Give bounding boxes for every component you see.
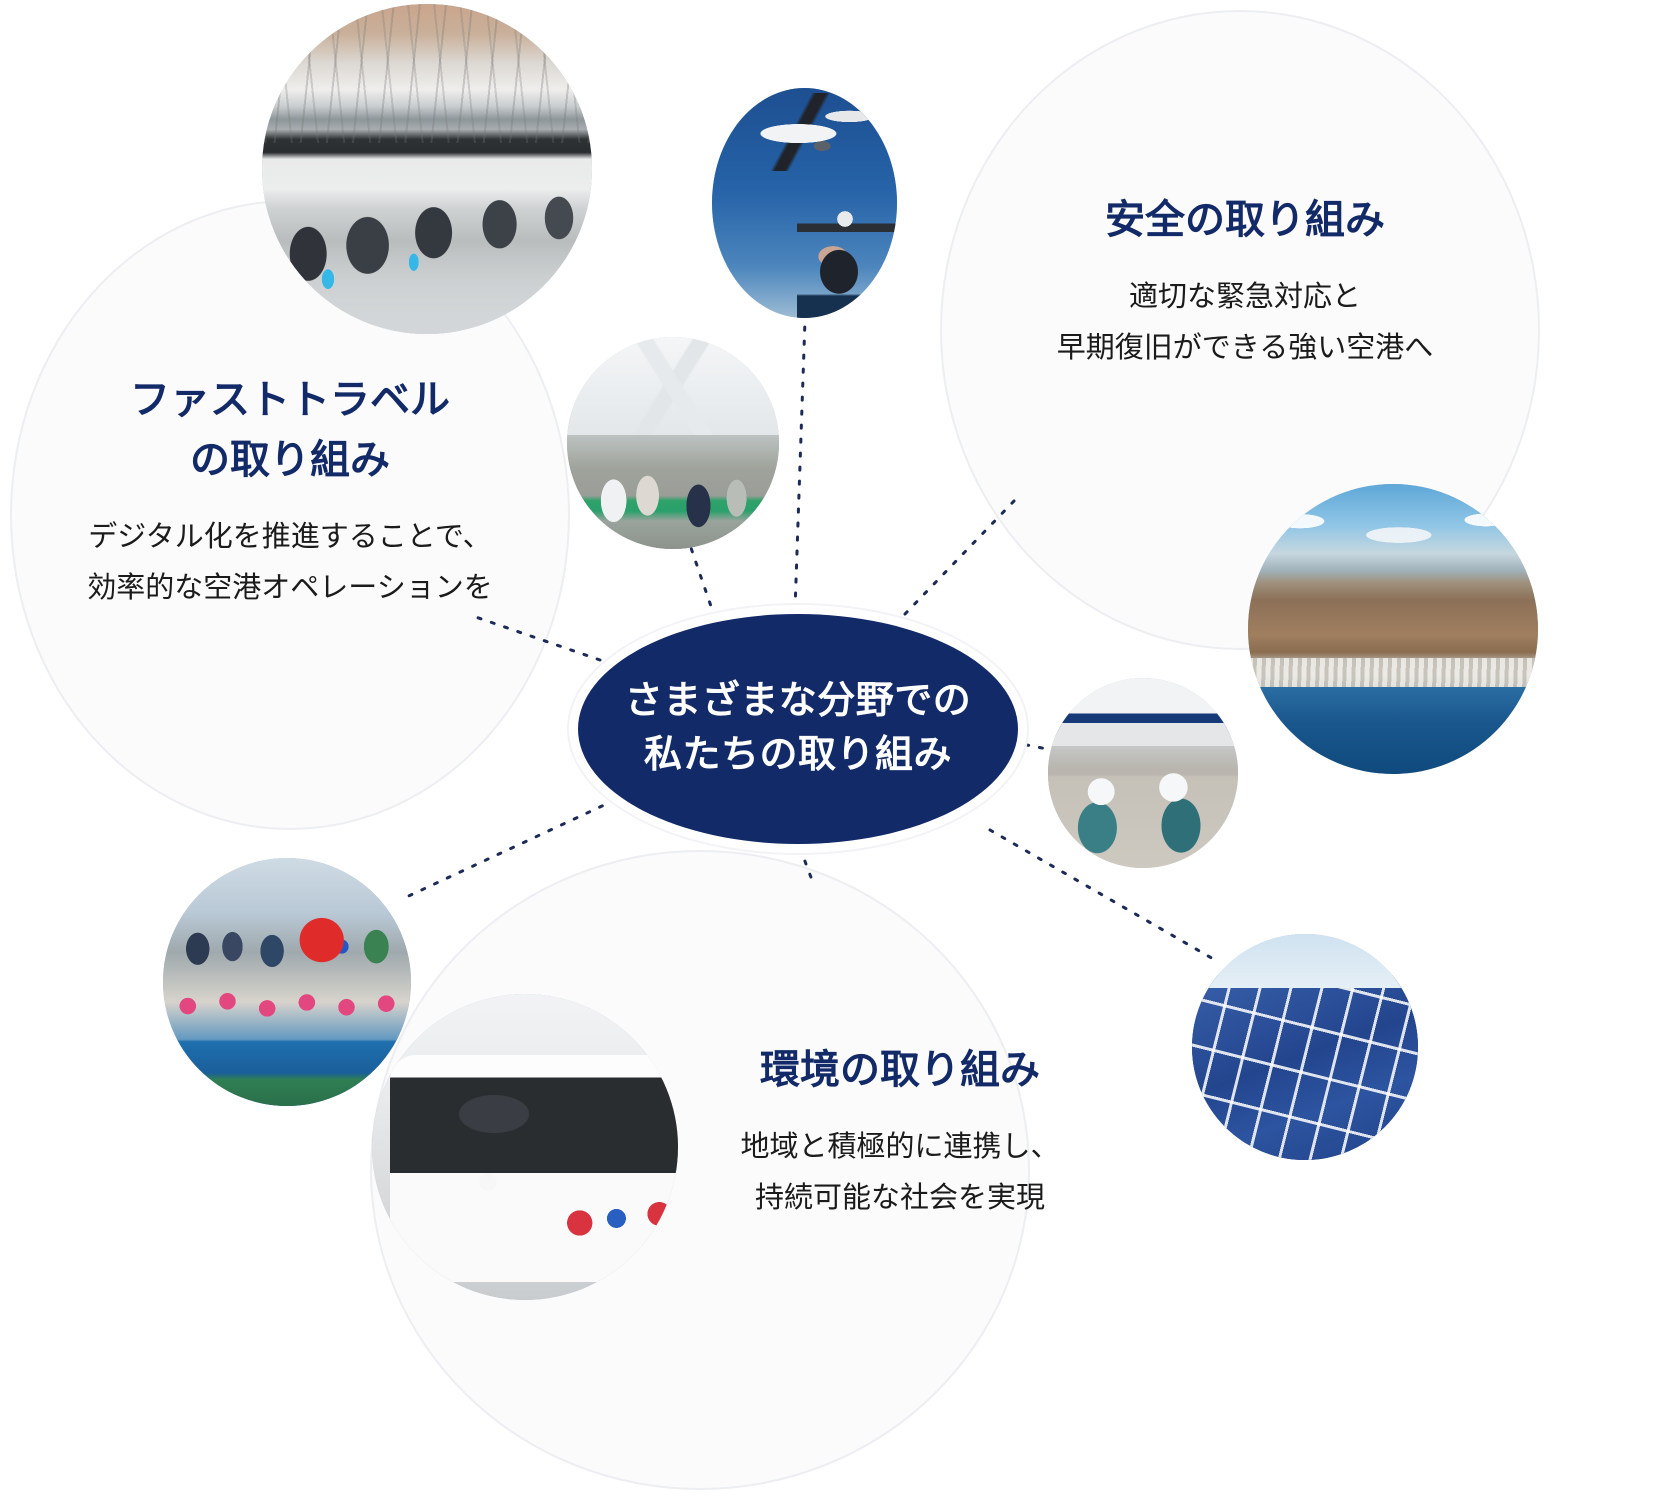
photo-baggage-check-in: baggage check-in counter with passengers [567, 337, 779, 549]
fast-travel-body-line-2: 効率的な空港オペレーションを [30, 563, 550, 614]
section-environment: 環境の取り組み 地域と積極的に連携し、 持続可能な社会を実現 [660, 1040, 1140, 1224]
solar-image [1192, 934, 1418, 1160]
section-fast-travel: ファストトラベル の取り組み デジタル化を推進することで、 効率的な空港オペレー… [30, 370, 550, 614]
section-title-fast-travel: ファストトラベル の取り組み [30, 370, 550, 490]
connector-to-baggage [690, 545, 715, 618]
photo-runway-inspection: workers inspecting apron beside aircraft [1048, 678, 1238, 868]
safety-body-line-1: 適切な緊急対応と [1000, 272, 1490, 323]
bus-image [372, 994, 678, 1300]
environment-body-line-2: 持続可能な社会を実現 [660, 1173, 1140, 1224]
connector-to-bus [800, 848, 812, 880]
photo-solar-panels: blue solar photovoltaic panels [1192, 934, 1418, 1160]
connector-to-kiosks [470, 615, 600, 660]
fast-travel-title-line-1: ファストトラベル [30, 370, 550, 430]
aircraft-image [712, 88, 897, 318]
center-node: さまざまな分野での 私たちの取り組み [578, 614, 1018, 844]
connector-to-coast [905, 500, 1015, 614]
safety-body-line-2: 早期復旧ができる強い空港へ [1000, 323, 1490, 374]
section-title-safety: 安全の取り組み [1000, 190, 1490, 250]
baggage-image [567, 337, 779, 549]
center-title-line-2: 私たちの取り組み [644, 729, 952, 783]
fast-travel-body-line-1: デジタル化を推進することで、 [30, 512, 550, 563]
safety-title-line-1: 安全の取り組み [1000, 190, 1490, 250]
environment-body-line-1: 地域と積極的に連携し、 [660, 1122, 1140, 1173]
seawall-image [1248, 484, 1538, 774]
infographic-canvas: airport self-service check-in kiosks sta… [0, 0, 1664, 1504]
section-body-fast-travel: デジタル化を推進することで、 効率的な空港オペレーションを [30, 512, 550, 614]
inspection-image [1048, 678, 1238, 868]
connector-to-plane [795, 320, 805, 610]
connector-to-kids [400, 800, 615, 900]
photo-seawall-coast: airport island seawall and sea [1248, 484, 1538, 774]
photo-self-service-kiosks: airport self-service check-in kiosks [262, 4, 592, 334]
section-body-safety: 適切な緊急対応と 早期復旧ができる強い空港へ [1000, 272, 1490, 374]
fast-travel-title-line-2: の取り組み [30, 430, 550, 490]
section-body-environment: 地域と積極的に連携し、 持続可能な社会を実現 [660, 1122, 1140, 1224]
photo-aircraft-observation: staff observing aircraft in blue sky [712, 88, 897, 318]
section-title-environment: 環境の取り組み [660, 1040, 1140, 1100]
kiosk-image [262, 4, 592, 334]
environment-title-line-1: 環境の取り組み [660, 1040, 1140, 1100]
center-title-line-1: さまざまな分野での [625, 675, 972, 729]
section-safety: 安全の取り組み 適切な緊急対応と 早期復旧ができる強い空港へ [1000, 190, 1490, 374]
photo-shuttle-bus: airport shuttle bus with character liver… [372, 994, 678, 1300]
